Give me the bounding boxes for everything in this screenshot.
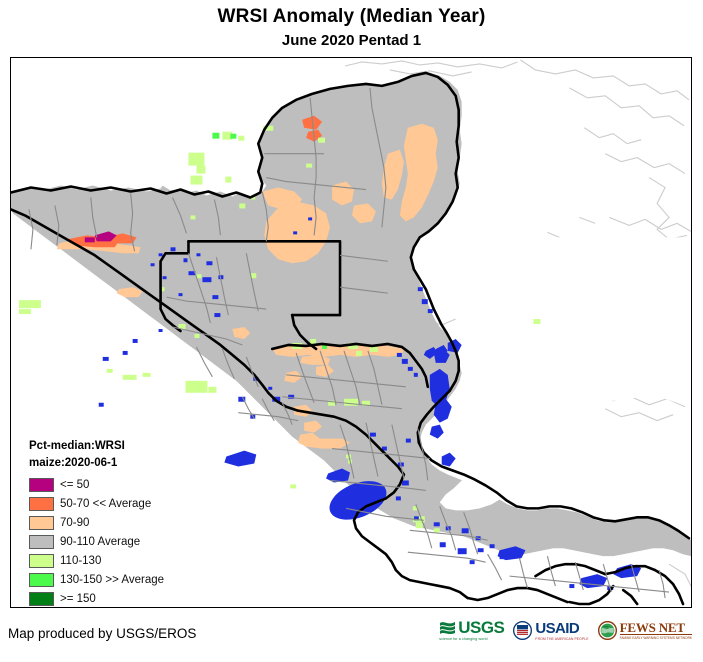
map-legend: Pct-median:WRSI maize:2020-06-1 <= 50 50…: [29, 438, 164, 608]
usgs-logo-tagline: science for a changing world: [439, 637, 487, 641]
fews-globe-icon: [598, 621, 617, 640]
legend-label-110-130: 110-130: [60, 554, 101, 568]
legend-label-130-150: 130-150 >> Average: [60, 573, 164, 587]
legend-item-110-130: 110-130: [29, 551, 164, 570]
legend-item-70-90: 70-90: [29, 513, 164, 532]
legend-swatch-110-130: [29, 554, 54, 568]
legend-item-gte-150: >= 150: [29, 589, 164, 608]
usaid-logo[interactable]: USAID FROM THE AMERICAN PEOPLE: [513, 621, 588, 641]
legend-label-90-110: 90-110 Average: [60, 535, 140, 549]
legend-label-50-70: 50-70 << Average: [60, 497, 151, 511]
legend-item-130-150: 130-150 >> Average: [29, 570, 164, 589]
logo-row: USGS science for a changing world USAID …: [439, 620, 692, 641]
usgs-logo[interactable]: USGS science for a changing world: [439, 620, 504, 641]
title-block: WRSI Anomaly (Median Year) June 2020 Pen…: [0, 0, 703, 52]
map-frame[interactable]: Pct-median:WRSI maize:2020-06-1 <= 50 50…: [10, 57, 692, 608]
legend-swatch-gte-150: [29, 592, 54, 606]
legend-item-50-70: 50-70 << Average: [29, 494, 164, 513]
legend-swatch-90-110: [29, 535, 54, 549]
legend-swatch-130-150: [29, 573, 54, 587]
legend-label-gte-150: >= 150: [60, 592, 96, 606]
page-title: WRSI Anomaly (Median Year): [0, 5, 703, 29]
legend-swatch-70-90: [29, 516, 54, 530]
legend-swatch-50-70: [29, 497, 54, 511]
usgs-wave-icon: [439, 620, 456, 636]
legend-swatch-lte-50: [29, 478, 54, 492]
footer: Map produced by USGS/EROS USGS science f…: [0, 608, 703, 662]
page-subtitle: June 2020 Pentad 1: [0, 30, 703, 52]
fews-net-logo-text: FEWS NET: [620, 621, 692, 635]
usaid-logo-tagline: FROM THE AMERICAN PEOPLE: [535, 637, 588, 641]
usaid-seal-icon: [513, 621, 532, 640]
produced-by-note: Map produced by USGS/EROS: [8, 626, 196, 641]
usgs-logo-text: USGS: [458, 620, 504, 636]
usaid-logo-text: USAID: [535, 621, 588, 636]
fews-net-logo[interactable]: FEWS NET FAMINE EARLY WARNING SYSTEMS NE…: [598, 621, 692, 640]
legend-item-lte-50: <= 50: [29, 475, 164, 494]
legend-item-90-110: 90-110 Average: [29, 532, 164, 551]
legend-rows: <= 50 50-70 << Average 70-90 90-110 Aver…: [29, 475, 164, 608]
legend-heading-line1: Pct-median:WRSI: [29, 438, 164, 455]
legend-label-70-90: 70-90: [60, 516, 89, 530]
legend-heading-line2: maize:2020-06-1: [29, 455, 164, 472]
legend-label-lte-50: <= 50: [60, 478, 89, 492]
fews-net-logo-tagline: FAMINE EARLY WARNING SYSTEMS NETWORK: [620, 636, 692, 640]
